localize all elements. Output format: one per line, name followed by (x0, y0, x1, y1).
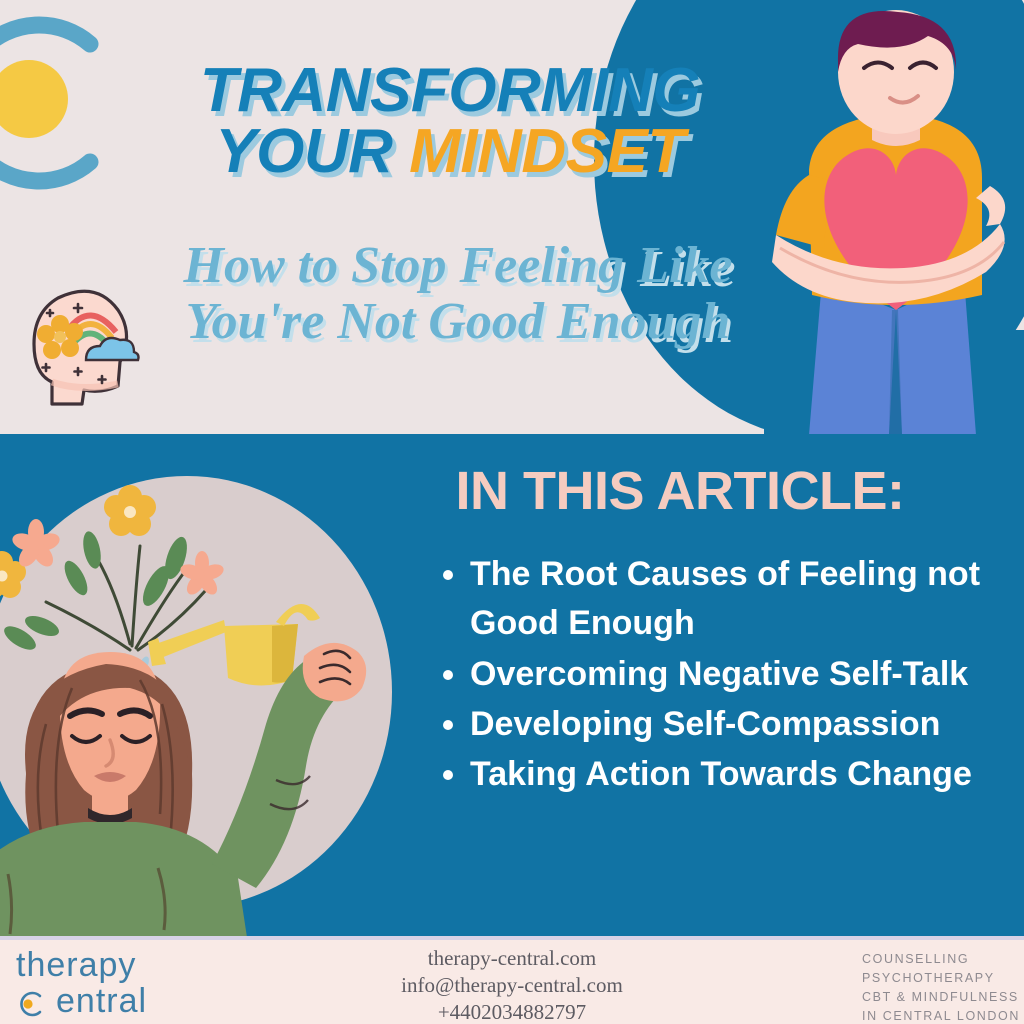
woman-watering-flowers-from-head-illustration (0, 474, 400, 938)
footer-website[interactable]: therapy-central.com (362, 945, 662, 972)
subtitle-line-2: You're Not Good Enough (118, 294, 798, 350)
footer-services-tagline: COUNSELLING PSYCHOTHERAPY CBT & MINDFULN… (862, 950, 1024, 1024)
tagline-line-4: IN CENTRAL LONDON (862, 1007, 1024, 1024)
poster-canvas: TRANSFORMING YOUR MINDSET How to Stop Fe… (0, 0, 1024, 1024)
list-item: Overcoming Negative Self-Talk (470, 650, 1024, 699)
subtitle-line-1: How to Stop Feeling Like (118, 238, 798, 294)
therapy-central-c-mark-icon (16, 989, 46, 1019)
footer-contact-block: therapy-central.com info@therapy-central… (362, 945, 662, 1024)
title-line-2-accent: MINDSET (409, 117, 685, 186)
subtitle-block: How to Stop Feeling Like You're Not Good… (118, 238, 798, 350)
header-section: TRANSFORMING YOUR MINDSET How to Stop Fe… (0, 0, 1024, 435)
article-bullet-list: The Root Causes of Feeling not Good Enou… (432, 550, 1024, 800)
therapy-central-logo[interactable]: therapy entral (16, 948, 206, 1019)
tagline-line-2: PSYCHOTHERAPY (862, 969, 1024, 988)
list-item: Taking Action Towards Change (470, 750, 1024, 799)
footer-email[interactable]: info@therapy-central.com (362, 972, 662, 999)
title-line-2-plain: YOUR (215, 117, 409, 186)
logo-word-therapy: therapy (16, 948, 206, 984)
logo-word-central: entral (16, 984, 206, 1020)
article-heading: IN THIS ARTICLE: (400, 460, 960, 522)
logo-central-text: entral (56, 982, 147, 1020)
footer-phone[interactable]: +4402034882797 (362, 999, 662, 1024)
title-line-1: TRANSFORMING (150, 60, 750, 121)
tagline-line-3: CBT & MINDFULNESS (862, 988, 1024, 1007)
title-block: TRANSFORMING YOUR MINDSET (150, 60, 750, 183)
list-item: Developing Self-Compassion (470, 700, 1024, 749)
title-line-2: YOUR MINDSET (150, 121, 750, 182)
footer-section: therapy entral therapy-central.com info@… (0, 940, 1024, 1024)
tagline-line-1: COUNSELLING (862, 950, 1024, 969)
list-item: The Root Causes of Feeling not Good Enou… (470, 550, 1024, 649)
article-section: IN THIS ARTICLE: The Root Causes of Feel… (0, 434, 1024, 938)
person-hugging-heart-illustration (714, 10, 1024, 435)
